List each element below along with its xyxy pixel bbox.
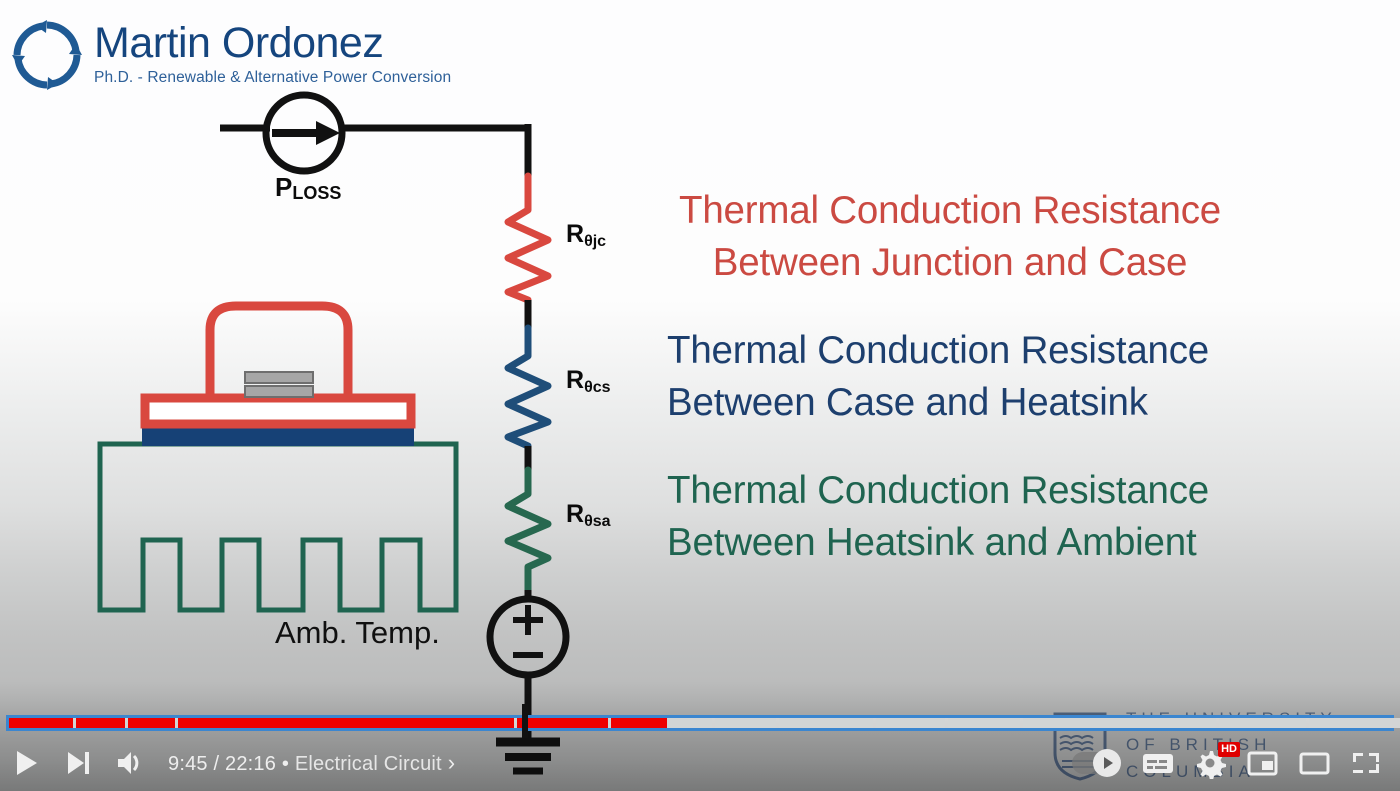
logo-subtitle: Ph.D. - Renewable & Alternative Power Co… xyxy=(94,69,451,87)
resistor-subscript: θcs xyxy=(584,379,610,396)
autoplay-knob xyxy=(1093,749,1121,777)
chapter-segment[interactable] xyxy=(1309,718,1400,728)
play-icon[interactable] xyxy=(0,734,52,791)
gear-icon[interactable]: HD xyxy=(1184,734,1236,791)
chapter-segment[interactable] xyxy=(876,718,945,728)
next-video-icon[interactable] xyxy=(52,734,104,791)
time-display: 9:45 / 22:16 • Electrical Circuit› xyxy=(168,750,455,776)
control-bar[interactable]: 9:45 / 22:16 • Electrical Circuit› xyxy=(0,734,1400,791)
total-time: 22:16 xyxy=(225,753,276,775)
chapter-segment[interactable] xyxy=(779,718,873,728)
chapter-progress-fill xyxy=(128,718,175,728)
resistor-theta-sa xyxy=(508,470,548,592)
scrubber-handle[interactable] xyxy=(522,704,528,738)
resistor-symbol: R xyxy=(566,220,584,248)
miniplayer-icon[interactable] xyxy=(1236,734,1288,791)
chapter-progress-fill xyxy=(517,718,608,728)
chevron-right-icon[interactable]: › xyxy=(448,750,456,775)
chapter-segment[interactable] xyxy=(128,718,175,728)
quality-badge: HD xyxy=(1218,742,1240,757)
volume-icon[interactable] xyxy=(104,734,156,791)
die-layer-bottom xyxy=(245,386,313,397)
chapter-segment[interactable] xyxy=(9,718,73,728)
autoplay-track xyxy=(1072,752,1118,774)
progress-bar[interactable] xyxy=(0,712,1400,734)
bullet-separator: • xyxy=(282,753,289,775)
description-line-1: Thermal Conduction Resistance xyxy=(667,325,1209,377)
current-source-symbol xyxy=(220,95,528,176)
chapter-progress-fill xyxy=(9,718,73,728)
description-line-2: Between Junction and Case xyxy=(679,237,1221,289)
time-divider: / xyxy=(214,753,220,775)
fullscreen-icon[interactable] xyxy=(1340,734,1392,791)
description-line-2: Between Heatsink and Ambient xyxy=(667,517,1209,569)
die-layer-top xyxy=(245,372,313,383)
logo-text-block: Martin Ordonez Ph.D. - Renewable & Alter… xyxy=(94,18,451,87)
ambient-temperature-label: Amb. Temp. xyxy=(275,615,440,651)
chapter-title[interactable]: Electrical Circuit xyxy=(295,753,442,775)
channel-logo: Martin Ordonez Ph.D. - Renewable & Alter… xyxy=(10,18,451,92)
resistor-subscript: θjc xyxy=(584,233,606,250)
subtitles-icon[interactable] xyxy=(1132,734,1184,791)
chapter-segment[interactable] xyxy=(611,718,712,728)
chapter-segment[interactable] xyxy=(1023,718,1216,728)
resistor-label-theta-sa: Rθsa xyxy=(566,502,611,530)
theater-mode-icon[interactable] xyxy=(1288,734,1340,791)
thermal-interface-layer xyxy=(142,424,414,446)
chapter-segment[interactable] xyxy=(178,718,514,728)
chapter-progress-fill xyxy=(178,718,514,728)
description-block-heatsink-ambient: Thermal Conduction Resistance Between He… xyxy=(667,465,1209,570)
autoplay-toggle[interactable] xyxy=(1058,734,1132,791)
description-block-junction-case: Thermal Conduction Resistance Between Ju… xyxy=(679,185,1221,290)
right-controls[interactable]: HD xyxy=(1058,734,1400,791)
case-tab xyxy=(210,306,348,398)
resistor-label-theta-cs: Rθcs xyxy=(566,368,611,396)
description-line-1: Thermal Conduction Resistance xyxy=(667,465,1209,517)
autoplay-play-glyph xyxy=(1104,757,1113,769)
chapter-progress-fill xyxy=(611,718,666,728)
heatsink-shape xyxy=(100,444,456,610)
description-line-1: Thermal Conduction Resistance xyxy=(679,185,1221,237)
description-line-2: Between Case and Heatsink xyxy=(667,377,1209,429)
resistor-theta-jc xyxy=(508,176,548,303)
resistor-subscript: θsa xyxy=(584,513,610,530)
chapter-segment[interactable] xyxy=(1219,718,1306,728)
ploss-label: PLOSS xyxy=(275,172,341,203)
video-player[interactable]: Martin Ordonez Ph.D. - Renewable & Alter… xyxy=(0,0,1400,791)
chapter-segments[interactable] xyxy=(9,718,1391,728)
chapter-segment[interactable] xyxy=(948,718,1020,728)
current-time: 9:45 xyxy=(168,753,208,775)
chapter-progress-fill xyxy=(76,718,126,728)
resistor-symbol: R xyxy=(566,500,584,528)
resistor-label-theta-jc: Rθjc xyxy=(566,222,606,250)
chapter-segment[interactable] xyxy=(76,718,126,728)
resistor-symbol: R xyxy=(566,366,584,394)
description-block-case-heatsink: Thermal Conduction Resistance Between Ca… xyxy=(667,325,1209,430)
chapter-segment[interactable] xyxy=(517,718,608,728)
case-base xyxy=(145,398,411,424)
chapter-segment[interactable] xyxy=(715,718,776,728)
circular-arrows-icon xyxy=(10,18,84,92)
resistor-theta-cs xyxy=(508,328,548,450)
logo-name: Martin Ordonez xyxy=(94,22,451,65)
